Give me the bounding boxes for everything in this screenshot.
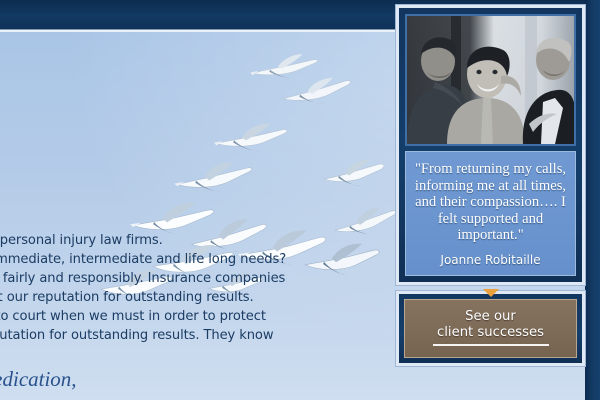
body-copy: foremost personal injury law firms. s or… [0,232,398,345]
testimonial-quote-box: "From returning my calls, informing me a… [405,151,576,276]
cta-inner-border: See our client successes [399,294,582,363]
signoff-text: Dedication, [0,369,298,390]
testimonial-panel: "From returning my calls, informing me a… [396,5,585,285]
body-line: foremost personal injury law firms. [0,232,398,251]
panel-outer-border: "From returning my calls, informing me a… [396,5,585,285]
goose [170,155,259,202]
body-line: w our reputation for outstanding results… [0,327,398,346]
body-line: s or her immediate, intermediate and lif… [0,251,398,270]
cta-line-2: client successes [411,325,570,341]
page-headline: to turn. [0,197,234,226]
panel-inner-border: "From returning my calls, informing me a… [399,8,582,282]
cta-outer-border: See our client successes [396,291,585,366]
body-line: ressively, fairly and responsibly. Insur… [0,270,398,289]
testimonial-author: Joanne Robitaille [414,253,567,267]
testimonial-photo [407,16,574,144]
goose [319,156,390,195]
page-canvas: to turn. foremost personal injury law fi… [0,0,600,400]
client-successes-cta[interactable]: See our client successes [396,291,585,366]
cta-underline [433,344,549,346]
testimonial-photo-frame [405,14,576,146]
photo-people-illustration [407,16,574,144]
see-client-successes-button[interactable]: See our client successes [404,299,577,358]
body-line: ed to go to court when we must in order … [0,308,398,327]
cta-line-1: See our [411,309,570,325]
body-line: m respect our reputation for outstanding… [0,289,398,308]
testimonial-quote: "From returning my calls, informing me a… [414,161,567,244]
goose [211,118,293,159]
right-navy-strip [585,0,600,400]
